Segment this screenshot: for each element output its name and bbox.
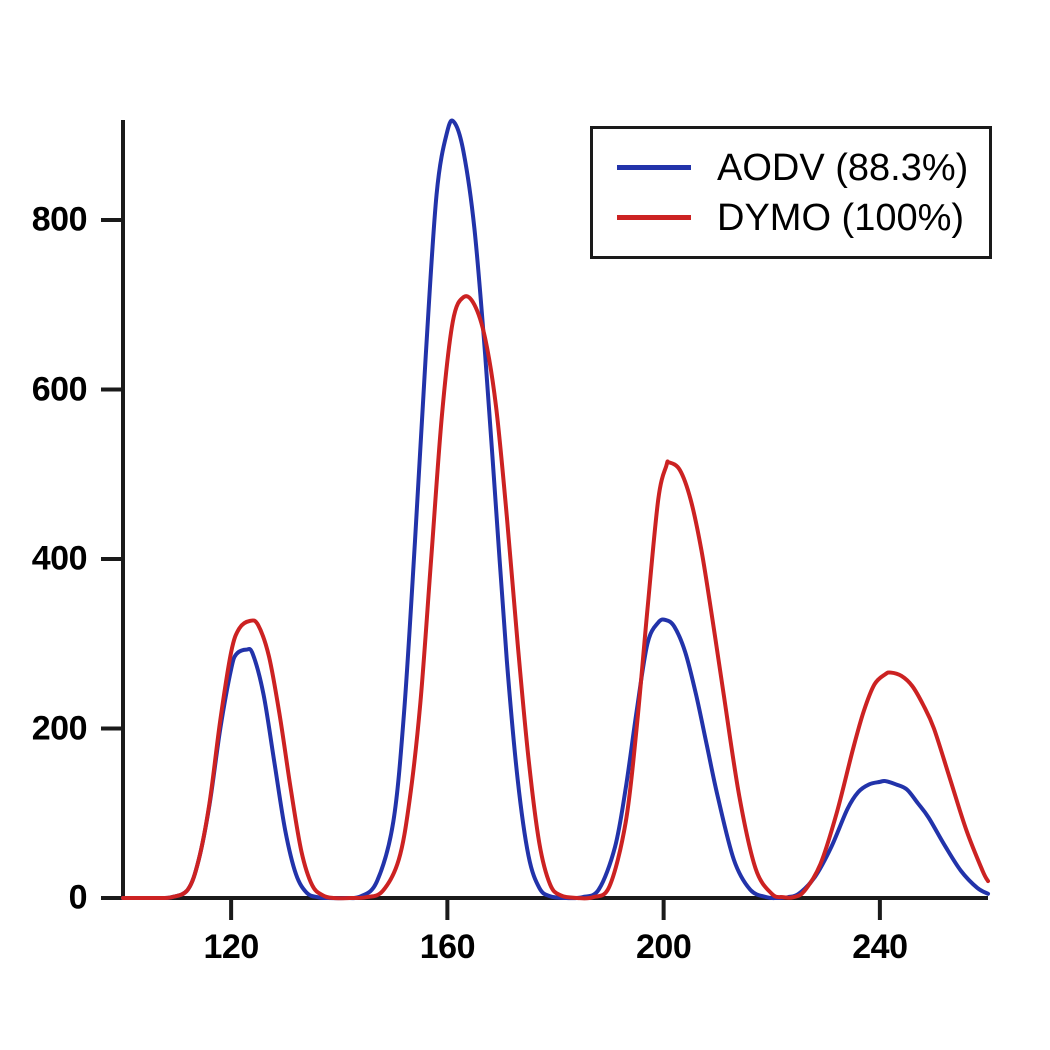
legend-swatch-aodv [617, 165, 691, 170]
x-axis-tick-label: 200 [636, 928, 691, 967]
chart-legend: AODV (88.3%) DYMO (100%) [590, 126, 992, 259]
y-axis-tick-label: 200 [0, 709, 87, 748]
legend-item: DYMO (100%) [617, 193, 989, 243]
chart-figure: 8006004002000 120160200240 AODV (88.3%) … [0, 0, 1050, 1050]
legend-item: AODV (88.3%) [617, 143, 989, 193]
x-axis-tick-label: 160 [420, 928, 475, 967]
legend-label-dymo: DYMO (100%) [717, 199, 964, 237]
x-axis-tick-marks [231, 898, 880, 920]
y-axis-tick-label: 600 [0, 370, 87, 409]
y-axis-tick-label: 800 [0, 201, 87, 240]
x-axis-tick-label: 120 [204, 928, 259, 967]
y-axis-tick-label: 0 [0, 879, 87, 918]
series-line-dymo [123, 296, 988, 898]
legend-label-aodv: AODV (88.3%) [717, 149, 968, 187]
y-axis-tick-marks [101, 220, 123, 898]
legend-swatch-dymo [617, 215, 691, 220]
x-axis-tick-label: 240 [852, 928, 907, 967]
y-axis-tick-label: 400 [0, 540, 87, 579]
